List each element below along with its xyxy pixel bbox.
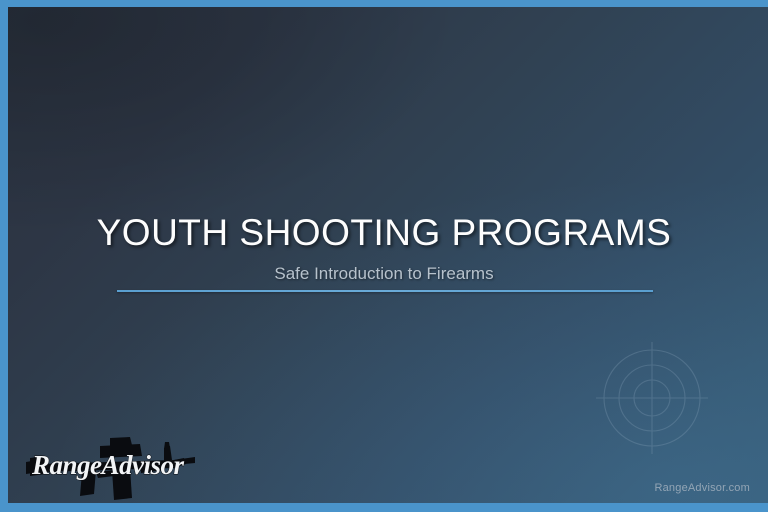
title-block: YOUTH SHOOTING PROGRAMS Safe Introductio… — [0, 212, 768, 284]
bottom-accent-bar — [0, 503, 768, 512]
brand-logo-wordmark: RangeAdvisor — [31, 450, 185, 480]
page-title: YOUTH SHOOTING PROGRAMS — [0, 212, 768, 254]
page-subtitle: Safe Introduction to Firearms — [0, 264, 768, 284]
footer-website-url: RangeAdvisor.com — [654, 482, 750, 494]
presentation-slide: YOUTH SHOOTING PROGRAMS Safe Introductio… — [0, 0, 768, 512]
top-accent-bar — [0, 0, 768, 7]
crosshair-target-icon — [592, 338, 712, 458]
title-underline-rule — [117, 290, 653, 292]
brand-logo: RangeAdvisor — [24, 424, 196, 500]
